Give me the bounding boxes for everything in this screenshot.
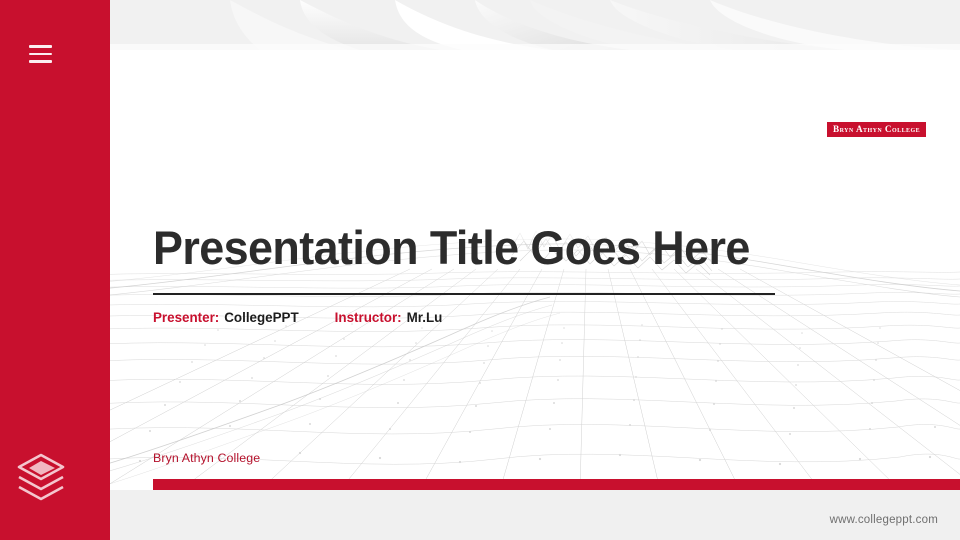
left-rail [0,0,110,540]
presenter-value: CollegePPT [224,310,298,325]
stacked-layers-logo-icon[interactable] [13,448,69,504]
hamburger-line [29,45,52,48]
title-block: Presentation Title Goes Here Presenter: … [153,224,793,325]
college-badge-label: Bryn Athyn College [833,125,920,134]
hamburger-line [29,60,52,63]
hamburger-line [29,53,52,56]
abstract-curved-ribbons-icon [110,0,960,50]
presenter-label: Presenter: [153,310,219,325]
presentation-viewer: Bryn Athyn College Presentation Title Go… [0,0,960,540]
slide-canvas[interactable]: Bryn Athyn College Presentation Title Go… [80,50,960,490]
slide-bottom-accent-bar [153,479,960,490]
watermark-url: www.collegeppt.com [830,514,938,526]
slide-title: Presentation Title Goes Here [153,224,764,272]
instructor-label: Instructor: [335,310,402,325]
slide-footer-label: Bryn Athyn College [153,451,260,465]
presenter-instructor-row: Presenter: CollegePPT Instructor: Mr.Lu [153,310,793,325]
header-decoration-band [110,0,960,50]
hamburger-menu-icon[interactable] [29,45,52,63]
college-badge: Bryn Athyn College [827,122,926,137]
instructor-value: Mr.Lu [407,310,443,325]
title-divider [153,293,775,295]
